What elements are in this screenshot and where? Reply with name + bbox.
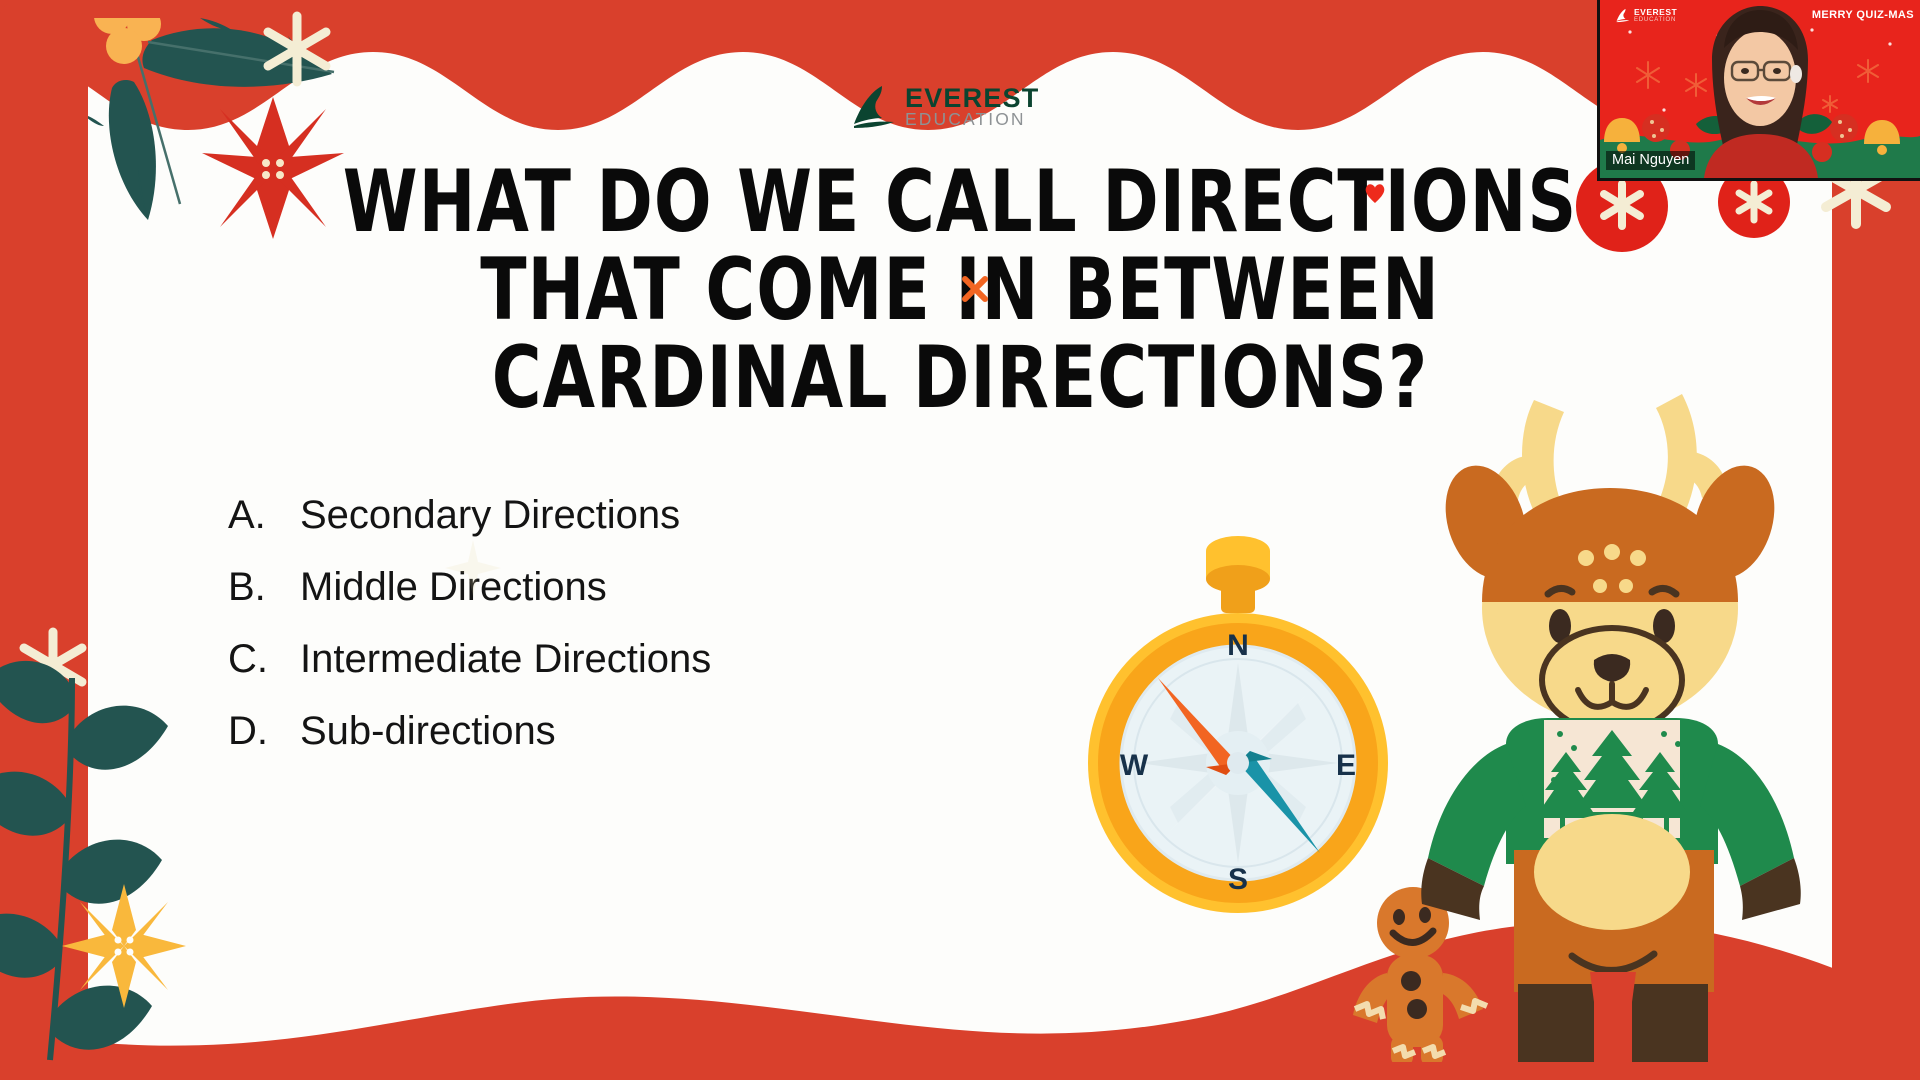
compass-illustration: N S W E [1058,523,1418,913]
compass-label-east: E [1336,749,1356,782]
answer-option-a[interactable]: A. Secondary Directions [228,493,711,538]
presentation-screen: EVEREST EDUCATION WHAT DO WE CALL DIRECT… [0,0,1920,1080]
title-line-1: WHAT DO WE CALL DIRECTIONS [231,158,1690,246]
compass-label-west: W [1120,749,1149,782]
answer-option-d[interactable]: D. Sub-directions [228,709,711,754]
compass-label-north: N [1227,629,1249,662]
compass-label-south: S [1228,863,1248,896]
webcam-everest-logo: EVEREST EDUCATION [1616,8,1677,23]
slide-white-card: EVEREST EDUCATION WHAT DO WE CALL DIRECT… [88,18,1832,1062]
option-c-key: C. [228,637,300,682]
webcam-logo-secondary: EDUCATION [1634,17,1677,23]
webcam-video-tile[interactable]: EVEREST EDUCATION MERRY QUIZ-MAS Mai Ngu… [1597,0,1920,181]
reindeer-character-icon [1414,372,1804,1062]
option-a-text: Secondary Directions [300,493,680,538]
option-d-text: Sub-directions [300,709,556,754]
logo-primary-text: EVEREST [905,86,1039,111]
option-b-key: B. [228,565,300,610]
option-d-key: D. [228,709,300,754]
everest-mountain-icon [852,84,896,130]
webcam-logo-primary: EVEREST [1634,8,1677,17]
option-b-text: Middle Directions [300,565,607,610]
option-a-key: A. [228,493,300,538]
participant-name-label: Mai Nguyen [1606,151,1695,170]
answer-option-b[interactable]: B. Middle Directions [228,565,711,610]
webcam-overlay-title: MERRY QUIZ-MAS [1812,9,1914,21]
title-line-2: THAT COME IN BETWEEN [231,246,1690,334]
logo-secondary-text: EDUCATION [905,111,1039,127]
everest-education-logo: EVEREST EDUCATION [852,84,1039,130]
everest-mountain-icon [1616,8,1630,23]
answer-option-c[interactable]: C. Intermediate Directions [228,637,711,682]
answer-options-list: A. Secondary Directions B. Middle Direct… [228,493,711,754]
option-c-text: Intermediate Directions [300,637,711,682]
